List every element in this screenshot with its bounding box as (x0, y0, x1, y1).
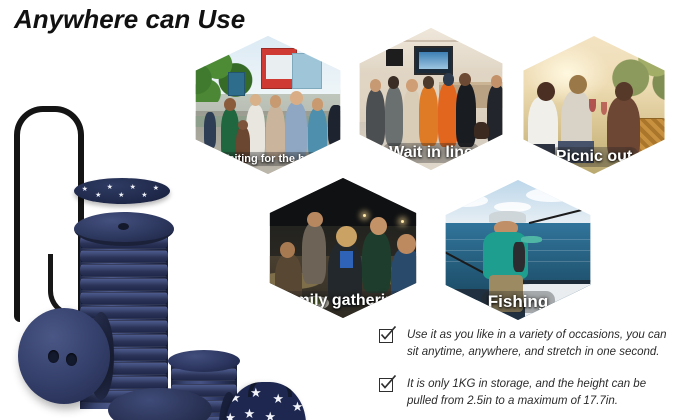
hex-tile-wait-in-line[interactable]: Wait in line (348, 28, 514, 170)
wheel-hole-left (48, 350, 59, 363)
hex-caption: Wait in line (348, 143, 514, 163)
wheel-hole-right (66, 353, 77, 366)
feature-bullet: Use it as you like in a variety of occas… (377, 327, 677, 362)
hex-caption: Picnic out (512, 147, 676, 167)
stool-seat-top (74, 212, 174, 246)
checkbox-checked-icon (379, 329, 393, 343)
feature-bullet-text: It is only 1KG in storage, and the heigh… (407, 376, 677, 411)
wall-tv-icon (414, 46, 453, 74)
hex-tile-fishing[interactable]: Fishing (434, 180, 602, 320)
stool-collapsed-top (168, 350, 240, 372)
checkbox-checked-icon (379, 378, 393, 392)
hex-caption: Fishing (434, 291, 602, 313)
hex-tile-picnic-out[interactable]: Picnic out (512, 36, 676, 174)
stool-seat-hole (118, 223, 129, 230)
promo-banner: Anywhere can Use ★ ★ ★ ★ ★ ★ ★ (0, 0, 680, 420)
feature-bullet: It is only 1KG in storage, and the heigh… (377, 376, 677, 411)
star-carry-bag: ★ ★ ★ ★ ★ ★ ★ ★ ★ ★ ★ ★ ★ ★ ★ ★ ★ ★ ★ ★ (226, 382, 306, 420)
star-seat-cushion: ★ ★ ★ ★ ★ ★ ★ (74, 178, 170, 204)
feature-bullet-text: Use it as you like in a variety of occas… (407, 327, 677, 362)
page-title: Anywhere can Use (14, 4, 245, 35)
wheel-disc (18, 308, 110, 404)
feature-bullet-list: Use it as you like in a variety of occas… (377, 327, 677, 420)
